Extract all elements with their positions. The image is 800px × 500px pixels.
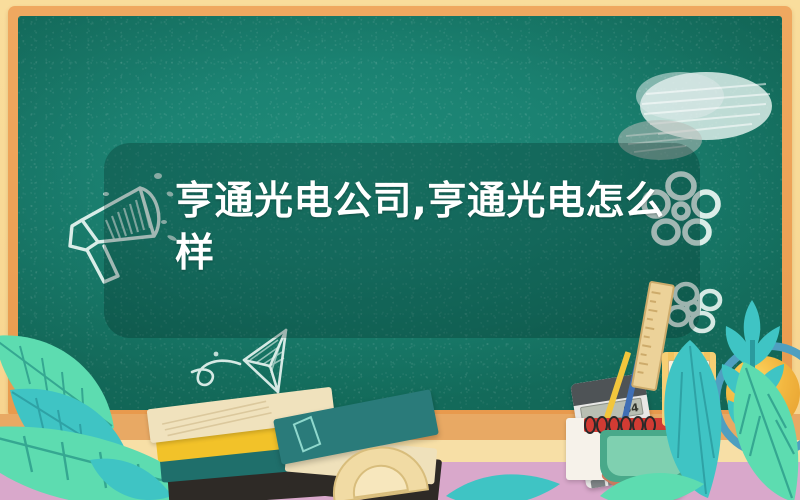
leaf-mint-small-right [598, 462, 708, 500]
poster-root: 亨通光电公司,亨通光电怎么样 [0, 0, 800, 500]
page-title: 亨通光电公司,亨通光电怎么样 [175, 176, 680, 280]
leaf-mint-right [710, 358, 800, 500]
leaf-teal-center-bottom [444, 466, 564, 500]
book-teal-emblem [288, 412, 338, 458]
